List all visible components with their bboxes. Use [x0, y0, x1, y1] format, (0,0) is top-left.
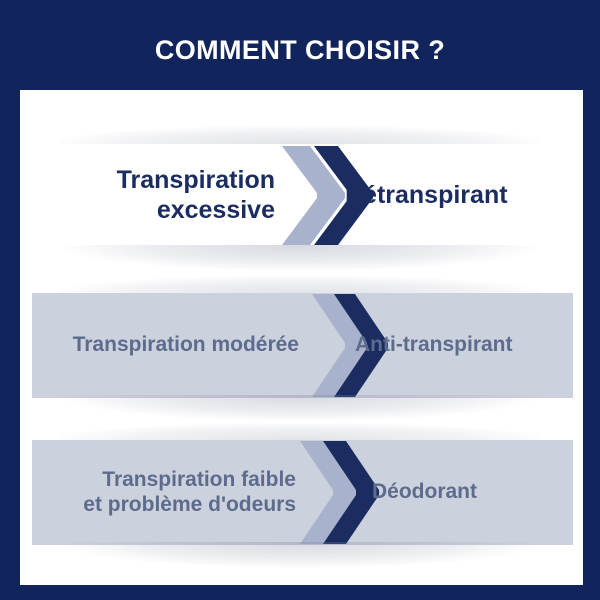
- infographic-poster: COMMENT CHOISIR ? Transpiration excessiv…: [0, 0, 600, 600]
- row-2-product-label: Anti-transpirant: [355, 293, 565, 398]
- content-card: Transpiration excessive Détranspirant Tr…: [20, 90, 583, 585]
- row-2-top-shadow: [60, 276, 540, 294]
- row-2-condition-label: Transpiration modérée: [34, 293, 299, 398]
- comparison-row-moderee: Transpiration modérée Anti-transpirant: [20, 293, 583, 398]
- row-3-bottom-shadow: [60, 542, 540, 568]
- row-1-condition-label: Transpiration excessive: [40, 143, 275, 248]
- comparison-row-excessive: Transpiration excessive Détranspirant: [20, 143, 583, 248]
- row-3-top-shadow: [60, 423, 540, 441]
- row-1-bottom-shadow: [60, 245, 540, 271]
- poster-title-bar: COMMENT CHOISIR ?: [0, 34, 600, 66]
- row-3-condition-label: Transpiration faible et problème d'odeur…: [34, 440, 296, 545]
- row-3-product-label: Déodorant: [372, 440, 567, 545]
- row-1-product-label: Détranspirant: [345, 143, 575, 248]
- comparison-row-faible: Transpiration faible et problème d'odeur…: [20, 440, 583, 545]
- row-1-top-shadow: [60, 126, 540, 144]
- row-2-bottom-shadow: [60, 395, 540, 421]
- page-title: COMMENT CHOISIR ?: [155, 34, 445, 66]
